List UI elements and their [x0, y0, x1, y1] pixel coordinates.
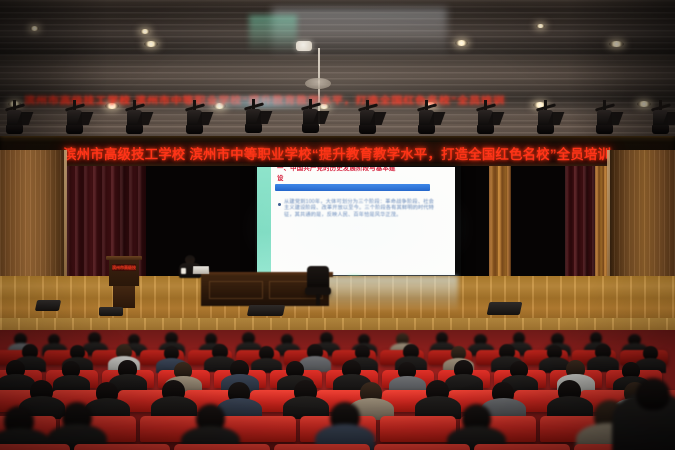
ceiling-shading — [0, 0, 675, 140]
stage-lamp — [182, 100, 208, 138]
audience-area — [0, 330, 675, 450]
slide-accent-bar — [275, 184, 430, 191]
slide-bullet-marker — [278, 203, 281, 206]
laptop — [193, 266, 209, 274]
stage-monitor-speaker — [99, 307, 123, 316]
projection-screen: 一、中国共产党的历史发展阶段与基本建 设 从建党到100年，大体可划分为三个阶段… — [255, 166, 461, 278]
stage-lamp — [533, 100, 559, 138]
auditorium-seat — [274, 444, 370, 450]
auditorium-seat — [174, 444, 270, 450]
stage-lamp — [355, 100, 381, 138]
drinking-cup — [181, 268, 186, 274]
podium-name-plate-text: 滨州市高级技工学校 — [112, 264, 136, 271]
auditorium-seat — [380, 416, 456, 442]
slide-title-line2: 设 — [277, 173, 283, 182]
stage-lamp — [414, 100, 440, 138]
auditorium-seat — [374, 444, 470, 450]
stage-lamp — [592, 100, 618, 138]
auditorium-seat — [74, 444, 170, 450]
stage-lamp — [2, 100, 28, 138]
slide-accent-band — [257, 167, 271, 275]
stage-lamp — [473, 100, 499, 138]
stage-lamp — [122, 100, 148, 138]
stage-lamp — [648, 100, 674, 138]
executive-chair — [305, 266, 331, 306]
stage-monitor-speaker — [35, 300, 61, 311]
stage-monitor-speaker — [247, 305, 285, 316]
led-banner-text: 滨州市高级技工学校 滨州市中等职业学校“提升教育教学水平，打造全国红色名校”全员… — [63, 143, 611, 163]
slide-title-line1: 一、中国共产党的历史发展阶段与基本建 — [277, 167, 452, 176]
presentation-slide: 一、中国共产党的历史发展阶段与基本建 设 从建党到100年，大体可划分为三个阶段… — [257, 167, 455, 275]
audience-head — [636, 378, 670, 410]
stage-monitor-speaker — [487, 302, 523, 315]
auditorium-scene: 滨州市高级技工学校 滨州市中等职业学校“提升教育教学水平，打造全国红色名校”全员… — [0, 0, 675, 450]
podium-name-plate: 滨州市高级技工学校 — [112, 264, 136, 271]
stage-lamp — [62, 100, 88, 138]
stage-lamp — [241, 99, 267, 137]
auditorium-seat — [474, 444, 570, 450]
stage-lamp — [298, 99, 324, 137]
podium: 滨州市高级技工学校 — [106, 256, 142, 308]
slide-body-text: 从建党到100年，大体可划分为三个阶段：革命战争阶段、社会主义建设阶段、改革开放… — [284, 199, 434, 218]
auditorium-seat — [0, 444, 70, 450]
led-banner: 滨州市高级技工学校 滨州市中等职业学校“提升教育教学水平，打造全国红色名校”全员… — [0, 136, 675, 169]
